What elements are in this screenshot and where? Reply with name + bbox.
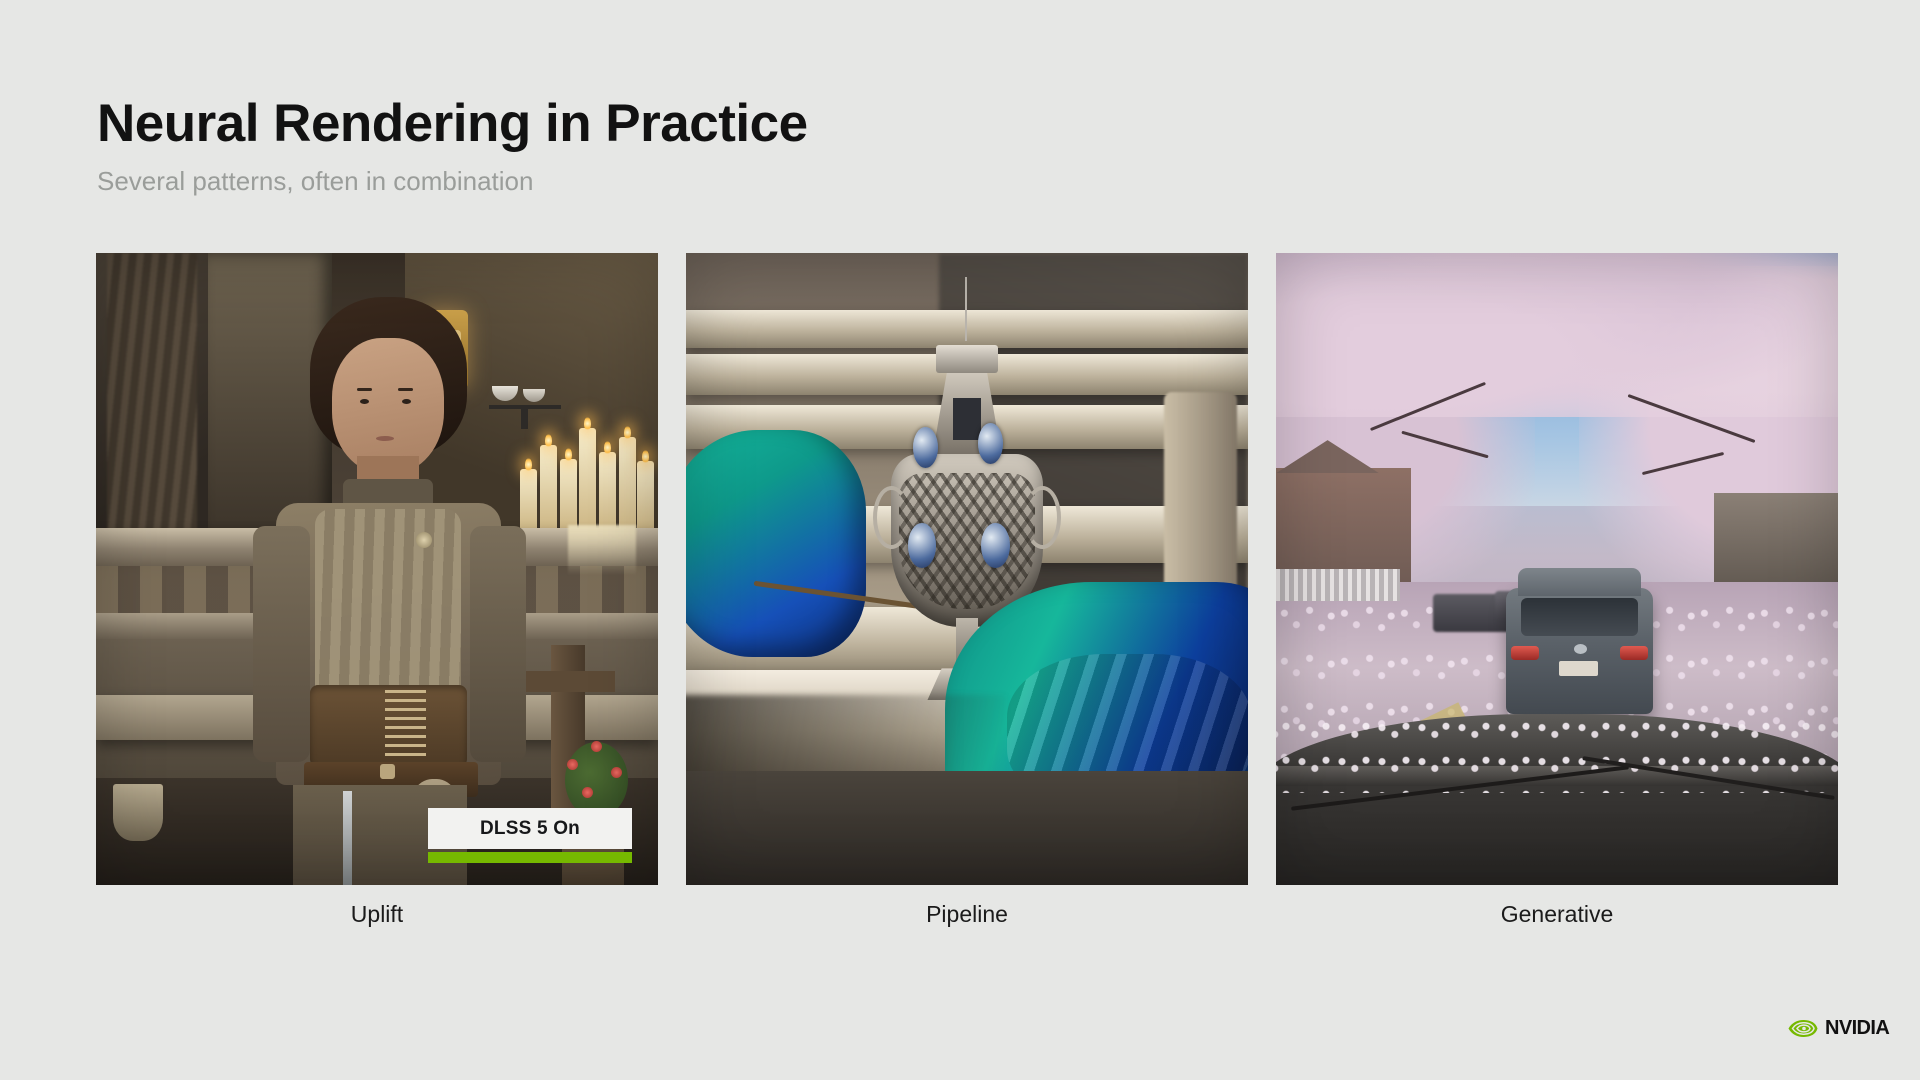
dlss-badge-bar <box>428 852 632 863</box>
dlss-badge-box: DLSS 5 On <box>428 808 632 849</box>
panel-image-uplift: DLSS 5 On <box>96 253 658 885</box>
page-title: Neural Rendering in Practice <box>97 95 1197 152</box>
candles-group <box>512 411 653 531</box>
dlss-badge: DLSS 5 On <box>428 808 632 863</box>
nvidia-logo: NVIDIA <box>1788 1018 1889 1038</box>
lead-car <box>1506 588 1652 714</box>
slide-root: Neural Rendering in Practice Several pat… <box>0 0 1920 1080</box>
character-figure <box>248 297 529 885</box>
panel-image-generative <box>1276 253 1838 885</box>
page-subtitle: Several patterns, often in combination <box>97 166 1197 197</box>
image-panel-row: DLSS 5 On Uplift <box>96 253 1838 885</box>
scene-candlelit-hall <box>96 253 658 885</box>
panel-caption-uplift: Uplift <box>96 901 658 928</box>
slide-header: Neural Rendering in Practice Several pat… <box>97 95 1197 197</box>
scene-blossom-street <box>1276 253 1838 885</box>
ego-car-hood <box>1276 714 1838 885</box>
panel-caption-generative: Generative <box>1276 901 1838 928</box>
dlss-badge-label: DLSS 5 On <box>480 818 580 840</box>
panel-image-pipeline <box>686 253 1248 885</box>
silk-cloth-left <box>686 430 866 658</box>
nvidia-wordmark: NVIDIA <box>1825 1018 1889 1038</box>
panel-uplift[interactable]: DLSS 5 On Uplift <box>96 253 658 885</box>
panel-caption-pipeline: Pipeline <box>686 901 1248 928</box>
scene-censer-steps <box>686 253 1248 885</box>
panel-generative[interactable]: Generative <box>1276 253 1838 885</box>
panel-pipeline[interactable]: Pipeline <box>686 253 1248 885</box>
nvidia-eye-icon <box>1788 1019 1818 1038</box>
